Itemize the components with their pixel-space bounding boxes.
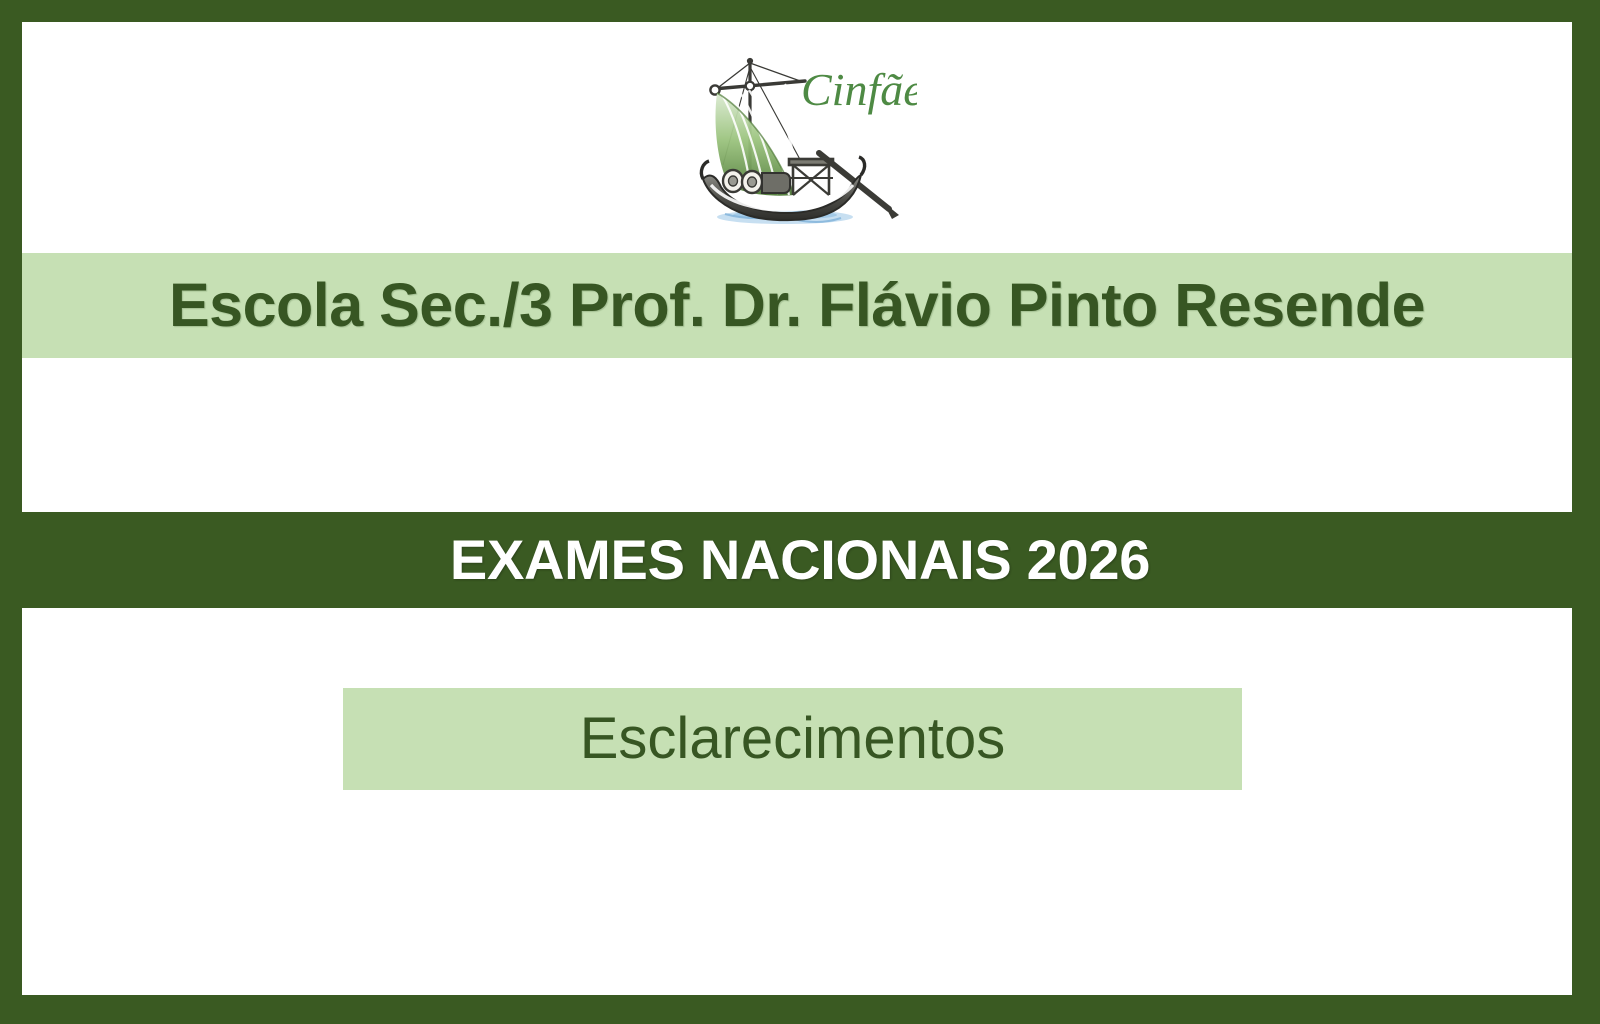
slide-page-body: Cinfães Escola Sec./3 Prof. Dr. Flávio P… (22, 22, 1572, 995)
logo-block: Cinfães (22, 22, 1572, 253)
logo-wordmark: Cinfães (801, 64, 917, 115)
slide-frame: Cinfães Escola Sec./3 Prof. Dr. Flávio P… (0, 0, 1600, 1024)
logo-barrels-icon (723, 170, 790, 193)
cinfaes-logo-icon: Cinfães (677, 45, 917, 230)
cinfaes-logo: Cinfães (677, 45, 917, 230)
esclarecimentos-chip[interactable]: Esclarecimentos (343, 688, 1242, 790)
esclarecimentos-label: Esclarecimentos (580, 710, 1005, 768)
spacer-above-banner (22, 358, 1572, 512)
exam-banner: EXAMES NACIONAIS 2026 (0, 512, 1600, 608)
school-name-text: Escola Sec./3 Prof. Dr. Flávio Pinto Res… (169, 275, 1425, 336)
exam-banner-title: EXAMES NACIONAIS 2026 (450, 532, 1150, 588)
school-name-band: Escola Sec./3 Prof. Dr. Flávio Pinto Res… (22, 253, 1572, 358)
logo-deck-structure-icon (789, 159, 833, 195)
